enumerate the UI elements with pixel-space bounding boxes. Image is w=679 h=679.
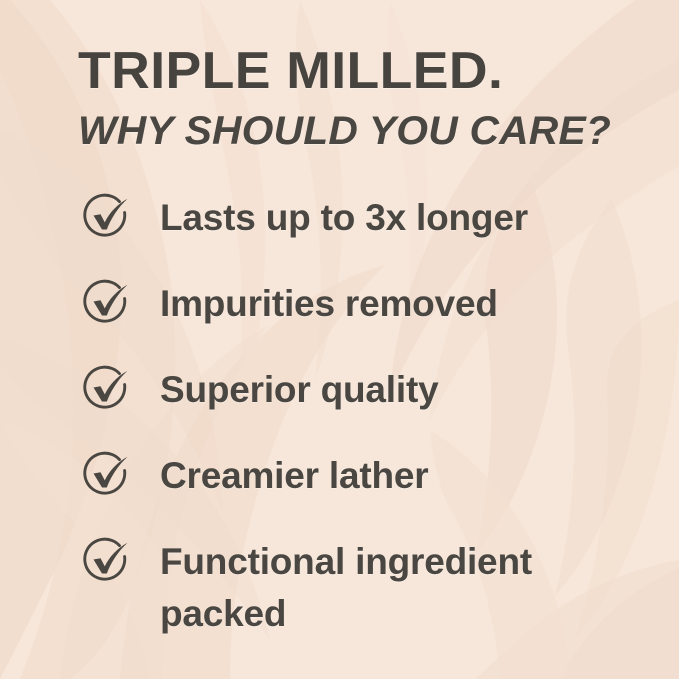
poster-content: TRIPLE MILLED. WHY SHOULD YOU CARE? Last… — [0, 0, 679, 640]
check-circle-icon — [78, 189, 134, 245]
poster-canvas: TRIPLE MILLED. WHY SHOULD YOU CARE? Last… — [0, 0, 679, 679]
page-subtitle: WHY SHOULD YOU CARE? — [78, 110, 650, 152]
list-item: Superior quality — [78, 364, 639, 417]
list-item: Lasts up to 3x longer — [78, 192, 639, 245]
benefit-label: Functional ingredient packed — [160, 536, 590, 640]
check-circle-icon — [78, 447, 134, 503]
benefit-label: Superior quality — [160, 364, 438, 416]
page-title: TRIPLE MILLED. — [78, 44, 656, 98]
list-item: Creamier lather — [78, 450, 639, 503]
benefit-label: Impurities removed — [160, 278, 498, 330]
benefit-label: Creamier lather — [160, 450, 428, 502]
benefit-list: Lasts up to 3x longer Impurities removed — [78, 192, 639, 640]
check-circle-icon — [78, 275, 134, 331]
benefit-label: Lasts up to 3x longer — [160, 192, 528, 244]
list-item: Impurities removed — [78, 278, 639, 331]
list-item: Functional ingredient packed — [78, 536, 639, 640]
check-circle-icon — [78, 533, 134, 589]
check-circle-icon — [78, 361, 134, 417]
